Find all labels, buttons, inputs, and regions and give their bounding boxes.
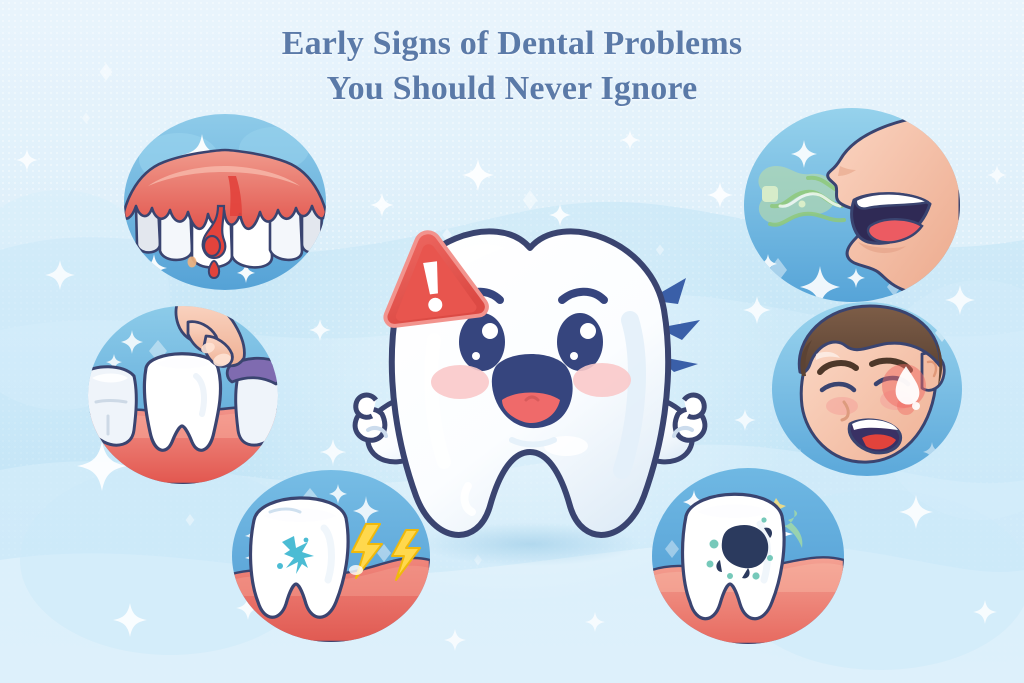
bad-breath-illustration [744, 108, 960, 302]
loose-tooth-illustration [88, 306, 278, 484]
jaw-pain-illustration [772, 302, 962, 476]
poster-canvas: Early Signs of Dental Problems You Shoul… [0, 0, 1024, 683]
bleeding-gums-illustration [124, 114, 326, 290]
warning-triangle-icon [372, 222, 492, 334]
